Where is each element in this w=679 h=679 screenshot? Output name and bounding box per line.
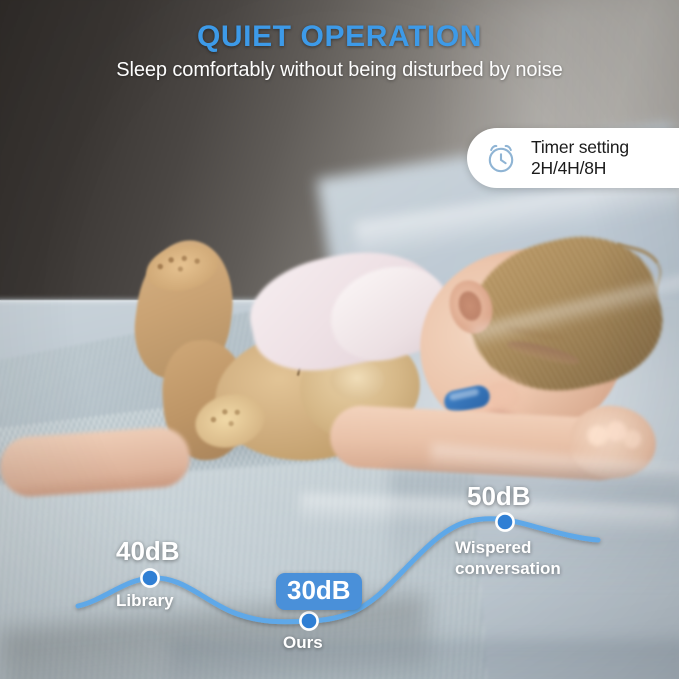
alarm-clock-icon — [481, 138, 521, 178]
page-subtitle: Sleep comfortably without being disturbe… — [0, 59, 679, 82]
photo-child-knuckles — [584, 418, 646, 462]
quiet-operation-infographic: QUIET OPERATION Sleep comfortably withou… — [0, 0, 679, 679]
timer-setting-label: Timer setting — [531, 137, 629, 158]
background-photo — [0, 0, 679, 679]
timer-setting-badge[interactable]: Timer setting 2H/4H/8H — [467, 128, 679, 188]
timer-setting-text: Timer setting 2H/4H/8H — [531, 137, 629, 179]
page-title: QUIET OPERATION — [0, 20, 679, 54]
photo-sheet-shadow-2 — [170, 640, 679, 679]
timer-setting-values: 2H/4H/8H — [531, 158, 629, 179]
